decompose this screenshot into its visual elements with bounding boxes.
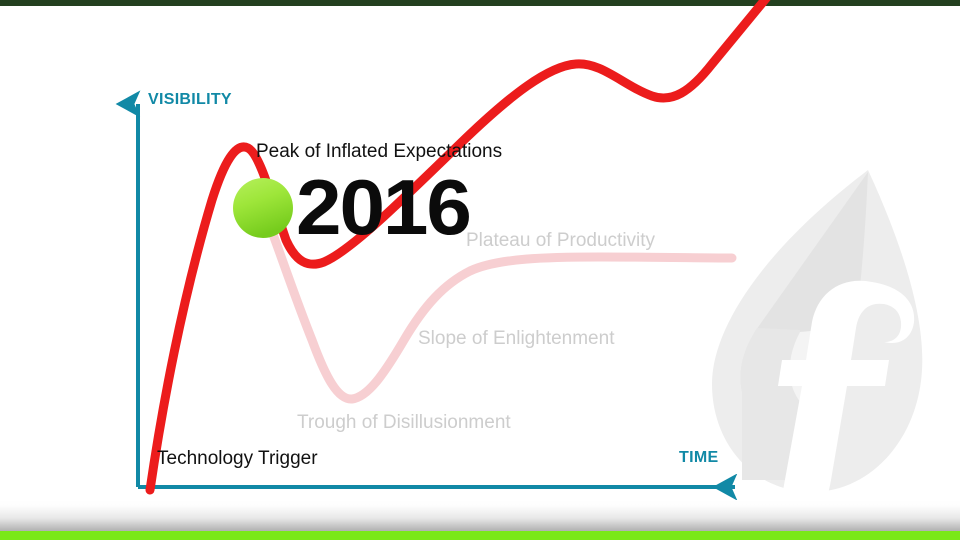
year-label: 2016 [296, 168, 470, 246]
stage-label-trough: Trough of Disillusionment [297, 413, 511, 432]
stage-label-trigger: Technology Trigger [157, 449, 318, 468]
stage-label-peak: Peak of Inflated Expectations [256, 142, 502, 161]
stage-label-slope: Slope of Enlightenment [418, 329, 614, 348]
leaf-f-logo-watermark [712, 170, 922, 540]
current-position-marker[interactable] [233, 178, 293, 238]
x-axis-label: TIME [679, 450, 718, 466]
slide-root: VISIBILITY TIME Peak of Inflated Expecta… [0, 0, 960, 540]
stage-label-plateau: Plateau of Productivity [466, 231, 655, 250]
hype-cycle-chart [0, 0, 960, 540]
y-axis-label: VISIBILITY [148, 92, 232, 108]
bottom-accent-stripe [0, 531, 960, 540]
bottom-gradient-band [0, 500, 960, 533]
